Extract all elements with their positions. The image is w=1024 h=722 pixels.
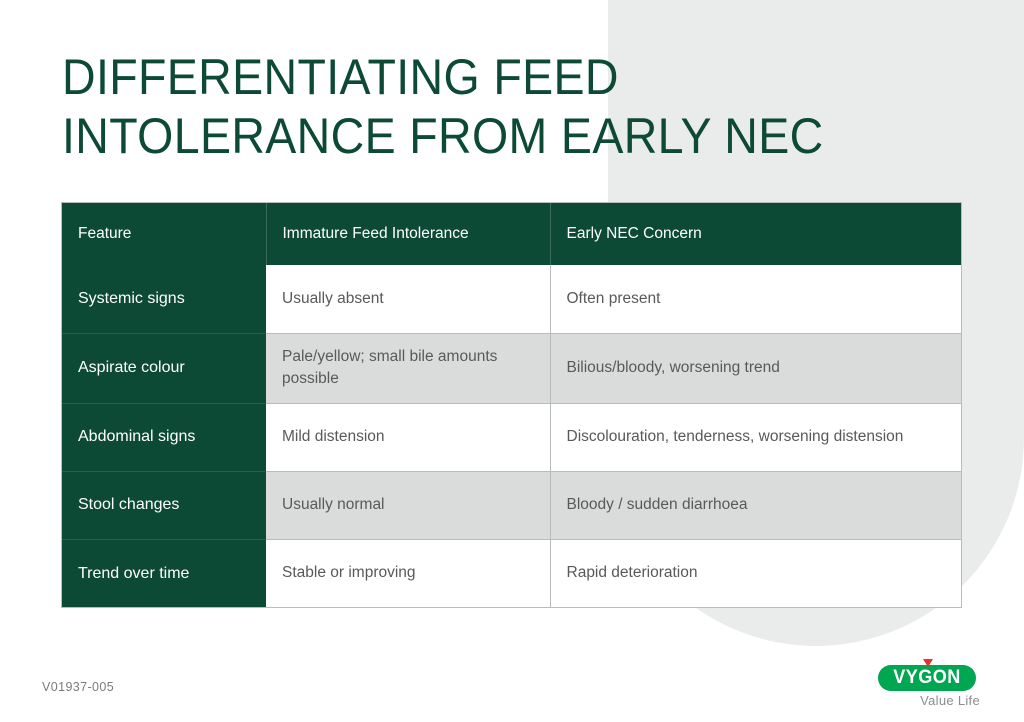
page-title: DIFFERENTIATING FEED INTOLERANCE FROM EA… (62, 48, 862, 166)
logo-wordmark: VYGON (879, 665, 976, 691)
cell-feature: Systemic signs (62, 265, 266, 333)
cell-feature: Aspirate colour (62, 333, 266, 403)
logo-tagline: Value Life (876, 693, 980, 708)
cell-nec: Rapid deterioration (550, 539, 961, 607)
table-header: Feature Immature Feed Intolerance Early … (62, 203, 961, 265)
cell-immature: Usually normal (266, 471, 550, 539)
cell-nec: Often present (550, 265, 961, 333)
column-header-feature: Feature (62, 203, 266, 265)
cell-feature: Trend over time (62, 539, 266, 607)
table-row: Systemic signs Usually absent Often pres… (62, 265, 961, 333)
slide: DIFFERENTIATING FEED INTOLERANCE FROM EA… (0, 0, 1024, 722)
cell-immature: Stable or improving (266, 539, 550, 607)
table-header-row: Feature Immature Feed Intolerance Early … (62, 203, 961, 265)
table-row: Stool changes Usually normal Bloody / su… (62, 471, 961, 539)
cell-feature: Abdominal signs (62, 403, 266, 471)
cell-immature: Pale/yellow; small bile amounts possible (266, 333, 550, 403)
document-code: V01937-005 (42, 680, 114, 694)
cell-immature: Usually absent (266, 265, 550, 333)
cell-nec: Discolouration, tenderness, worsening di… (550, 403, 961, 471)
column-header-immature-feed-intolerance: Immature Feed Intolerance (266, 203, 550, 265)
cell-nec: Bloody / sudden diarrhoea (550, 471, 961, 539)
comparison-table-container: Feature Immature Feed Intolerance Early … (62, 203, 961, 607)
vygon-logo: VYGON Value Life (876, 657, 986, 707)
table-row: Trend over time Stable or improving Rapi… (62, 539, 961, 607)
table-row: Abdominal signs Mild distension Discolou… (62, 403, 961, 471)
cell-feature: Stool changes (62, 471, 266, 539)
cell-nec: Bilious/bloody, worsening trend (550, 333, 961, 403)
comparison-table: Feature Immature Feed Intolerance Early … (62, 203, 961, 607)
table-body: Systemic signs Usually absent Often pres… (62, 265, 961, 607)
column-header-early-nec-concern: Early NEC Concern (550, 203, 961, 265)
table-row: Aspirate colour Pale/yellow; small bile … (62, 333, 961, 403)
cell-immature: Mild distension (266, 403, 550, 471)
